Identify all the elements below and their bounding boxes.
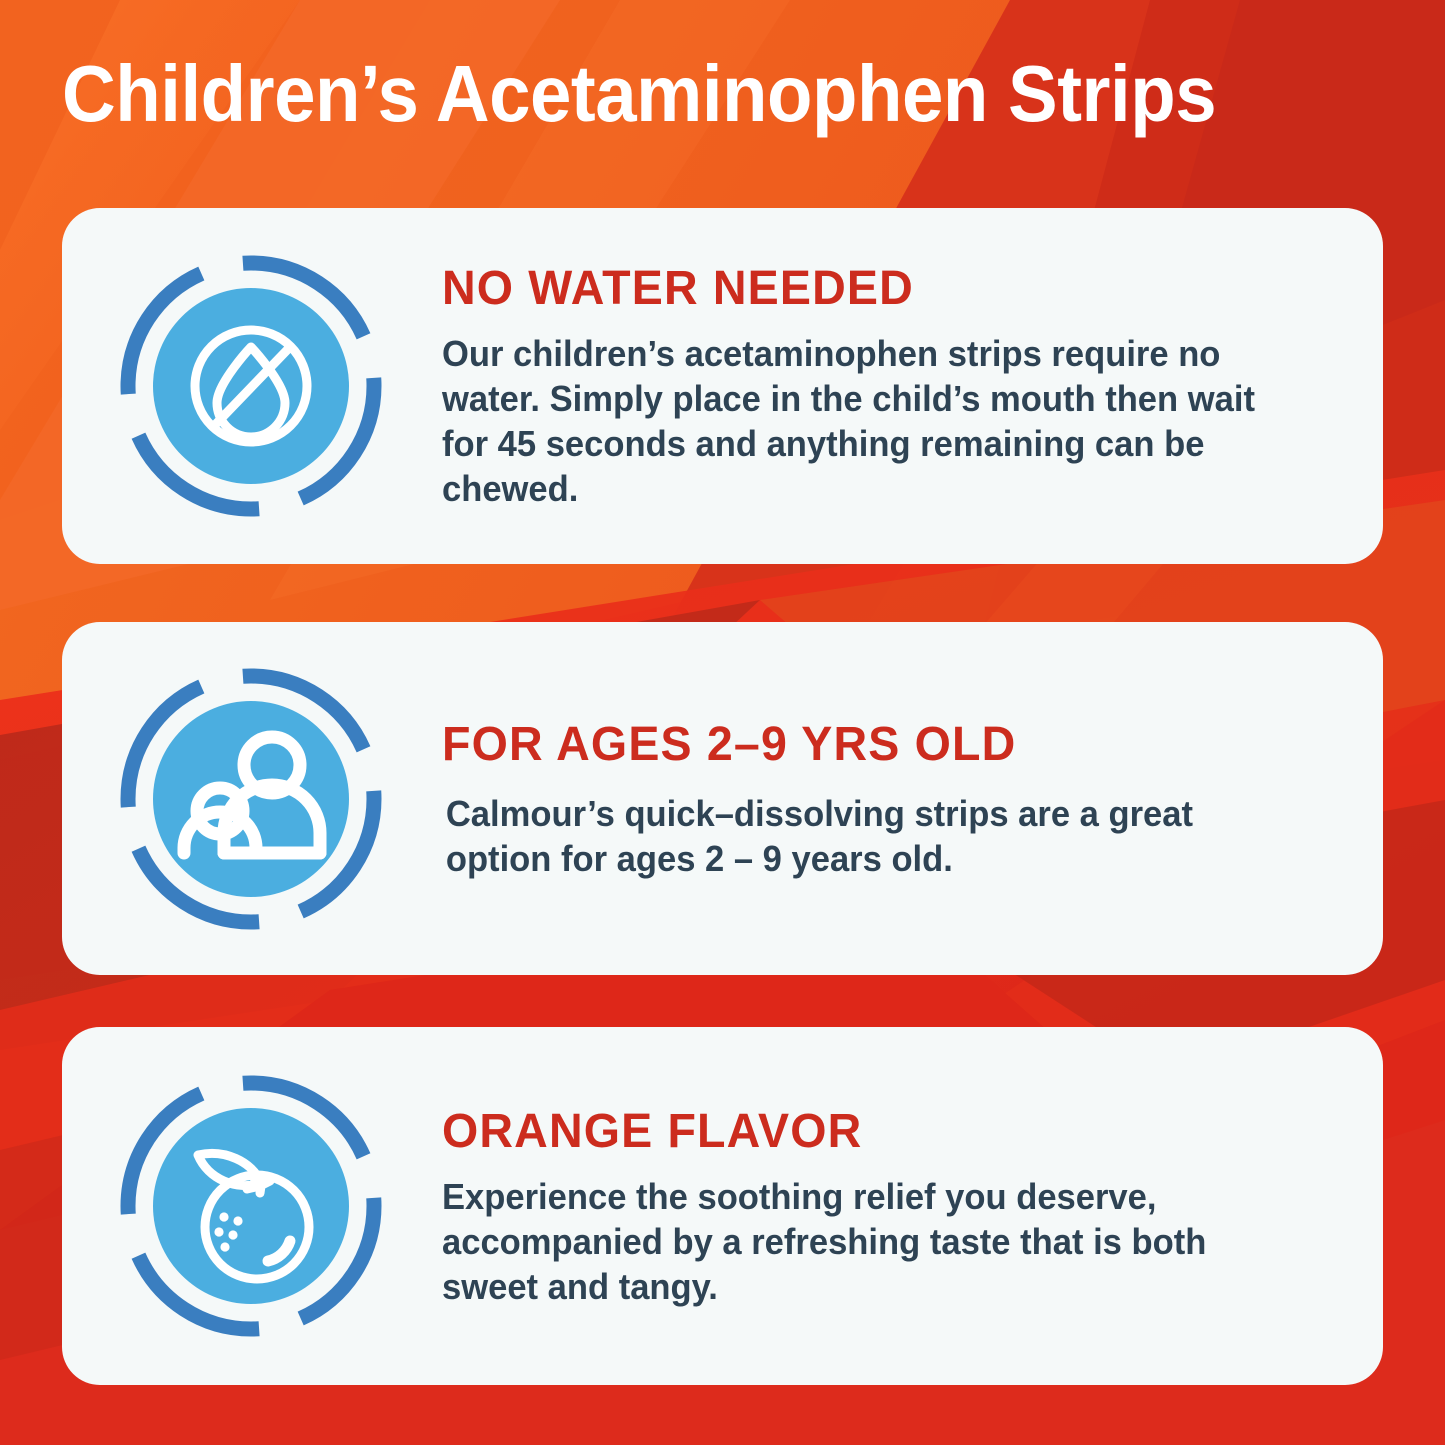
orange-fruit-icon bbox=[120, 1075, 382, 1337]
card-body: NO WATER NEEDED Our children’s acetamino… bbox=[382, 261, 1383, 511]
card-heading: FOR AGES 2–9 YRS OLD bbox=[442, 717, 1316, 773]
card-description: Calmour’s quick–dissolving strips are a … bbox=[442, 791, 1307, 881]
page-title: Children’s Acetaminophen Strips bbox=[62, 48, 1308, 140]
infographic-poster: Children’s Acetaminophen Strips bbox=[0, 0, 1445, 1445]
feature-card-ages: FOR AGES 2–9 YRS OLD Calmour’s quick–dis… bbox=[62, 622, 1383, 975]
card-heading: NO WATER NEEDED bbox=[442, 261, 1316, 317]
card-body: ORANGE FLAVOR Experience the soothing re… bbox=[382, 1104, 1383, 1309]
card-heading: ORANGE FLAVOR bbox=[442, 1104, 1316, 1160]
feature-card-no-water: NO WATER NEEDED Our children’s acetamino… bbox=[62, 208, 1383, 564]
parent-and-child-icon bbox=[120, 668, 382, 930]
no-water-drop-icon bbox=[120, 255, 382, 517]
card-description: Experience the soothing relief you deser… bbox=[442, 1174, 1307, 1309]
card-body: FOR AGES 2–9 YRS OLD Calmour’s quick–dis… bbox=[382, 717, 1383, 881]
feature-card-flavor: ORANGE FLAVOR Experience the soothing re… bbox=[62, 1027, 1383, 1385]
card-description: Our children’s acetaminophen strips requ… bbox=[442, 331, 1307, 511]
